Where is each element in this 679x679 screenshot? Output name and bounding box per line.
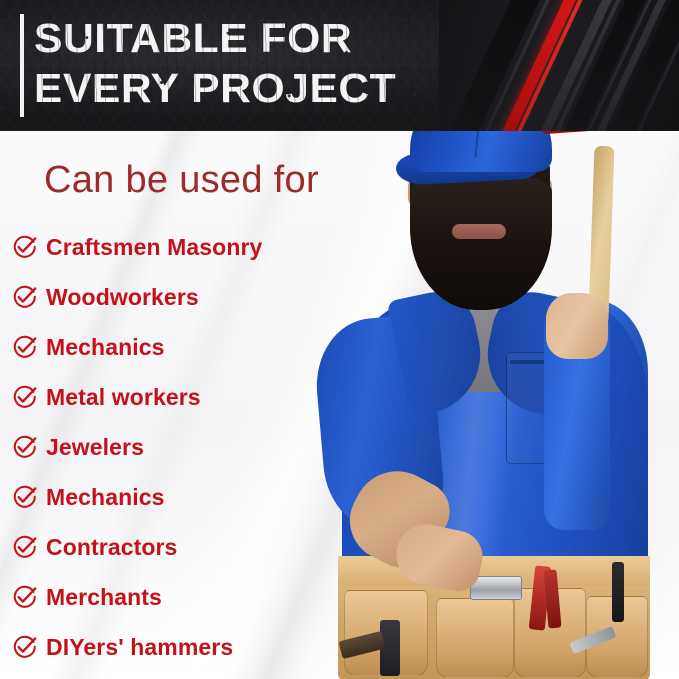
screwdriver-icon	[612, 562, 624, 622]
mouth	[452, 224, 506, 239]
use-case-list: Craftsmen Masonry Woodworkers Mechanics …	[12, 222, 342, 672]
circle-check-icon	[12, 585, 37, 610]
circle-check-icon	[12, 385, 37, 410]
list-item-label: Jewelers	[46, 434, 144, 461]
headline-line-1: SUITABLE FOR	[34, 13, 481, 63]
circle-check-icon	[12, 235, 37, 260]
list-item-5: Mechanics	[12, 472, 342, 522]
list-item-2: Mechanics	[12, 322, 342, 372]
circle-check-icon	[12, 335, 37, 360]
list-item-label: Mechanics	[46, 334, 165, 361]
belt-pouch	[436, 598, 514, 678]
circle-check-icon	[12, 635, 37, 660]
beard	[410, 178, 552, 310]
product-feature-poster: SUITABLE FOR EVERY PROJECT Can be used f…	[0, 0, 679, 679]
list-item-label: Contractors	[46, 534, 177, 561]
headline: SUITABLE FOR EVERY PROJECT	[34, 13, 464, 113]
headline-line-2: EVERY PROJECT	[34, 63, 481, 113]
list-item-label: Merchants	[46, 584, 162, 611]
belt-buckle	[470, 576, 522, 600]
list-item-6: Contractors	[12, 522, 342, 572]
circle-check-icon	[12, 535, 37, 560]
list-item-8: DIYers' hammers	[12, 622, 342, 672]
header-accent-rule	[20, 14, 24, 117]
list-item-1: Woodworkers	[12, 272, 342, 322]
list-item-label: Metal workers	[46, 384, 201, 411]
circle-check-icon	[12, 285, 37, 310]
subheading: Can be used for	[44, 158, 319, 202]
list-item-label: Craftsmen Masonry	[46, 234, 262, 261]
list-item-7: Merchants	[12, 572, 342, 622]
list-item-3: Metal workers	[12, 372, 342, 422]
circle-check-icon	[12, 435, 37, 460]
list-item-4: Jewelers	[12, 422, 342, 472]
list-item-label: Mechanics	[46, 484, 165, 511]
hand-gripping-hammer	[546, 293, 608, 359]
circle-check-icon	[12, 485, 37, 510]
list-item-0: Craftsmen Masonry	[12, 222, 342, 272]
list-item-label: DIYers' hammers	[46, 634, 233, 661]
list-item-label: Woodworkers	[46, 284, 199, 311]
header-banner: SUITABLE FOR EVERY PROJECT	[0, 0, 679, 131]
